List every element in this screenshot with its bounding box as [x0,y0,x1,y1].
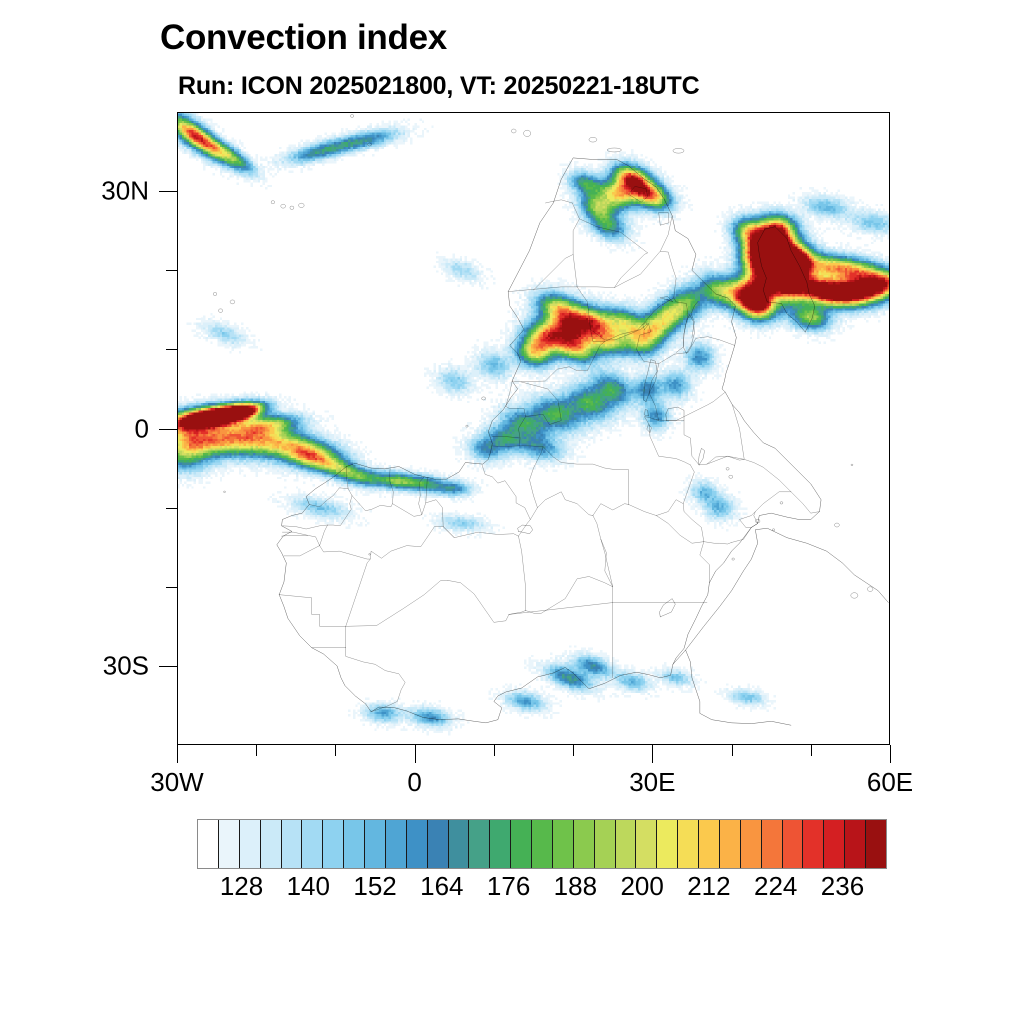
colorbar-cell[interactable] [428,820,449,868]
colorbar-cell[interactable] [344,820,365,868]
y-tick-major [159,429,177,430]
colorbar-tick-label: 176 [487,871,530,902]
colorbar-cell[interactable] [449,820,470,868]
colorbar-cell[interactable] [595,820,616,868]
y-axis-label: 30S [103,650,149,681]
convection-index-chart: Convection index Run: ICON 2025021800, V… [0,0,1024,1024]
colorbar-cell[interactable] [219,820,240,868]
colorbar-cell[interactable] [365,820,386,868]
colorbar-cell[interactable] [824,820,845,868]
x-tick-major [415,745,416,763]
colorbar-cell[interactable] [720,820,741,868]
colorbar-cell[interactable] [532,820,553,868]
colorbar-cell[interactable] [469,820,490,868]
y-tick-major [159,191,177,192]
colorbar-cell[interactable] [261,820,282,868]
x-tick-minor [811,745,812,756]
colorbar-tick-label: 188 [554,871,597,902]
page-title: Convection index [160,18,447,58]
x-axis-label: 0 [407,767,421,798]
colorbar-cell[interactable] [407,820,428,868]
x-tick-major [177,745,178,763]
colorbar-cell[interactable] [678,820,699,868]
colorbar-cell[interactable] [741,820,762,868]
y-tick-minor [166,508,177,509]
colorbar-cell[interactable] [323,820,344,868]
map-plot-area [177,112,890,745]
colorbar-cell[interactable] [302,820,323,868]
colorbar-cell[interactable] [198,820,219,868]
colorbar-cell[interactable] [282,820,303,868]
y-axis-label: 30N [101,176,149,207]
y-tick-minor [166,349,177,350]
colorbar-tick-label: 200 [620,871,663,902]
x-axis-label: 30E [629,767,675,798]
colorbar-cell[interactable] [783,820,804,868]
page-subtitle: Run: ICON 2025021800, VT: 20250221-18UTC [178,72,699,101]
x-axis-label: 30W [150,767,203,798]
x-tick-major [652,745,653,763]
colorbar-cell[interactable] [845,820,866,868]
plot-frame [177,112,890,745]
colorbar-cell[interactable] [240,820,261,868]
x-tick-minor [494,745,495,756]
x-tick-major [890,745,891,763]
x-tick-minor [573,745,574,756]
colorbar-cell[interactable] [511,820,532,868]
colorbar-tick-labels: 128140152164176188200212224236 [197,871,887,907]
colorbar-tick-label: 212 [687,871,730,902]
colorbar-cell[interactable] [574,820,595,868]
colorbar-tick-label: 236 [821,871,864,902]
colorbar-cell[interactable] [490,820,511,868]
y-tick-major [159,666,177,667]
colorbar-tick-label: 152 [353,871,396,902]
colorbar-tick-label: 224 [754,871,797,902]
colorbar-cell[interactable] [657,820,678,868]
colorbar[interactable]: 128140152164176188200212224236 [197,819,887,869]
x-tick-minor [732,745,733,756]
colorbar-cell[interactable] [866,820,886,868]
x-tick-minor [256,745,257,756]
y-axis-label: 0 [135,413,149,444]
colorbar-tick-label: 140 [287,871,330,902]
colorbar-cell[interactable] [762,820,783,868]
y-tick-minor [166,270,177,271]
colorbar-cell[interactable] [386,820,407,868]
colorbar-cell[interactable] [636,820,657,868]
colorbar-cells[interactable] [197,819,887,869]
colorbar-tick-label: 164 [420,871,463,902]
x-axis-label: 60E [867,767,913,798]
colorbar-cell[interactable] [699,820,720,868]
colorbar-tick-label: 128 [220,871,263,902]
x-tick-minor [335,745,336,756]
colorbar-cell[interactable] [803,820,824,868]
y-tick-minor [166,587,177,588]
colorbar-cell[interactable] [616,820,637,868]
colorbar-cell[interactable] [553,820,574,868]
